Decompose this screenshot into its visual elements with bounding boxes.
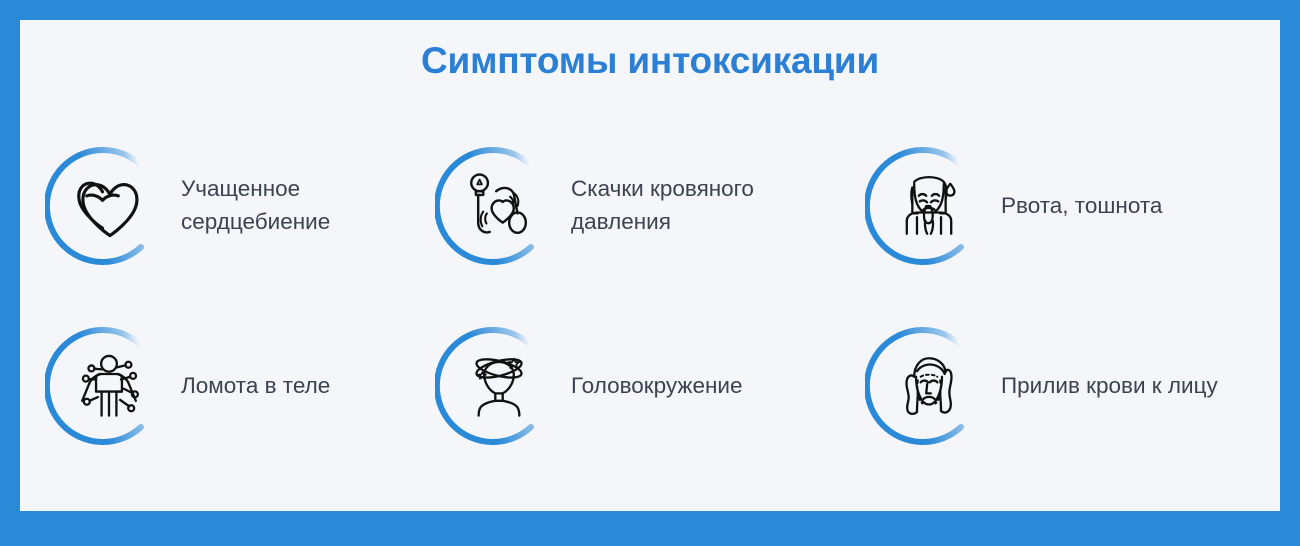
symptom-label: Прилив крови к лицу	[1001, 370, 1218, 403]
symptom-item-heartbeat: Учащенное сердцебиение	[45, 116, 435, 296]
symptom-badge	[865, 145, 987, 267]
infographic-card: Симптомы интоксикации	[0, 0, 1300, 546]
double-heart-icon	[72, 169, 146, 243]
symptom-badge	[45, 325, 167, 447]
symptom-item-blood-pressure: Скачки кровяного давления	[435, 116, 865, 296]
blood-pressure-monitor-icon	[462, 169, 536, 243]
symptom-label: Головокружение	[571, 370, 743, 403]
dizzy-head-icon	[462, 349, 536, 423]
flushed-face-icon	[892, 349, 966, 423]
symptom-label: Учащенное сердцебиение	[181, 173, 381, 238]
symptom-item-body-aches: Ломота в теле	[45, 296, 435, 476]
symptom-badge	[45, 145, 167, 267]
body-aches-icon	[72, 349, 146, 423]
symptom-label: Рвота, тошнота	[1001, 190, 1162, 223]
content-panel: Симптомы интоксикации	[20, 20, 1280, 511]
symptom-item-dizziness: Головокружение	[435, 296, 865, 476]
symptom-badge	[435, 145, 557, 267]
nausea-person-icon	[892, 169, 966, 243]
symptom-grid: Учащенное сердцебиение	[45, 116, 1255, 476]
symptom-badge	[435, 325, 557, 447]
symptom-label: Ломота в теле	[181, 370, 330, 403]
symptom-item-nausea: Рвота, тошнота	[865, 116, 1255, 296]
page-title: Симптомы интоксикации	[20, 40, 1280, 82]
symptom-item-facial-flush: Прилив крови к лицу	[865, 296, 1255, 476]
symptom-label: Скачки кровяного давления	[571, 173, 801, 238]
symptom-badge	[865, 325, 987, 447]
